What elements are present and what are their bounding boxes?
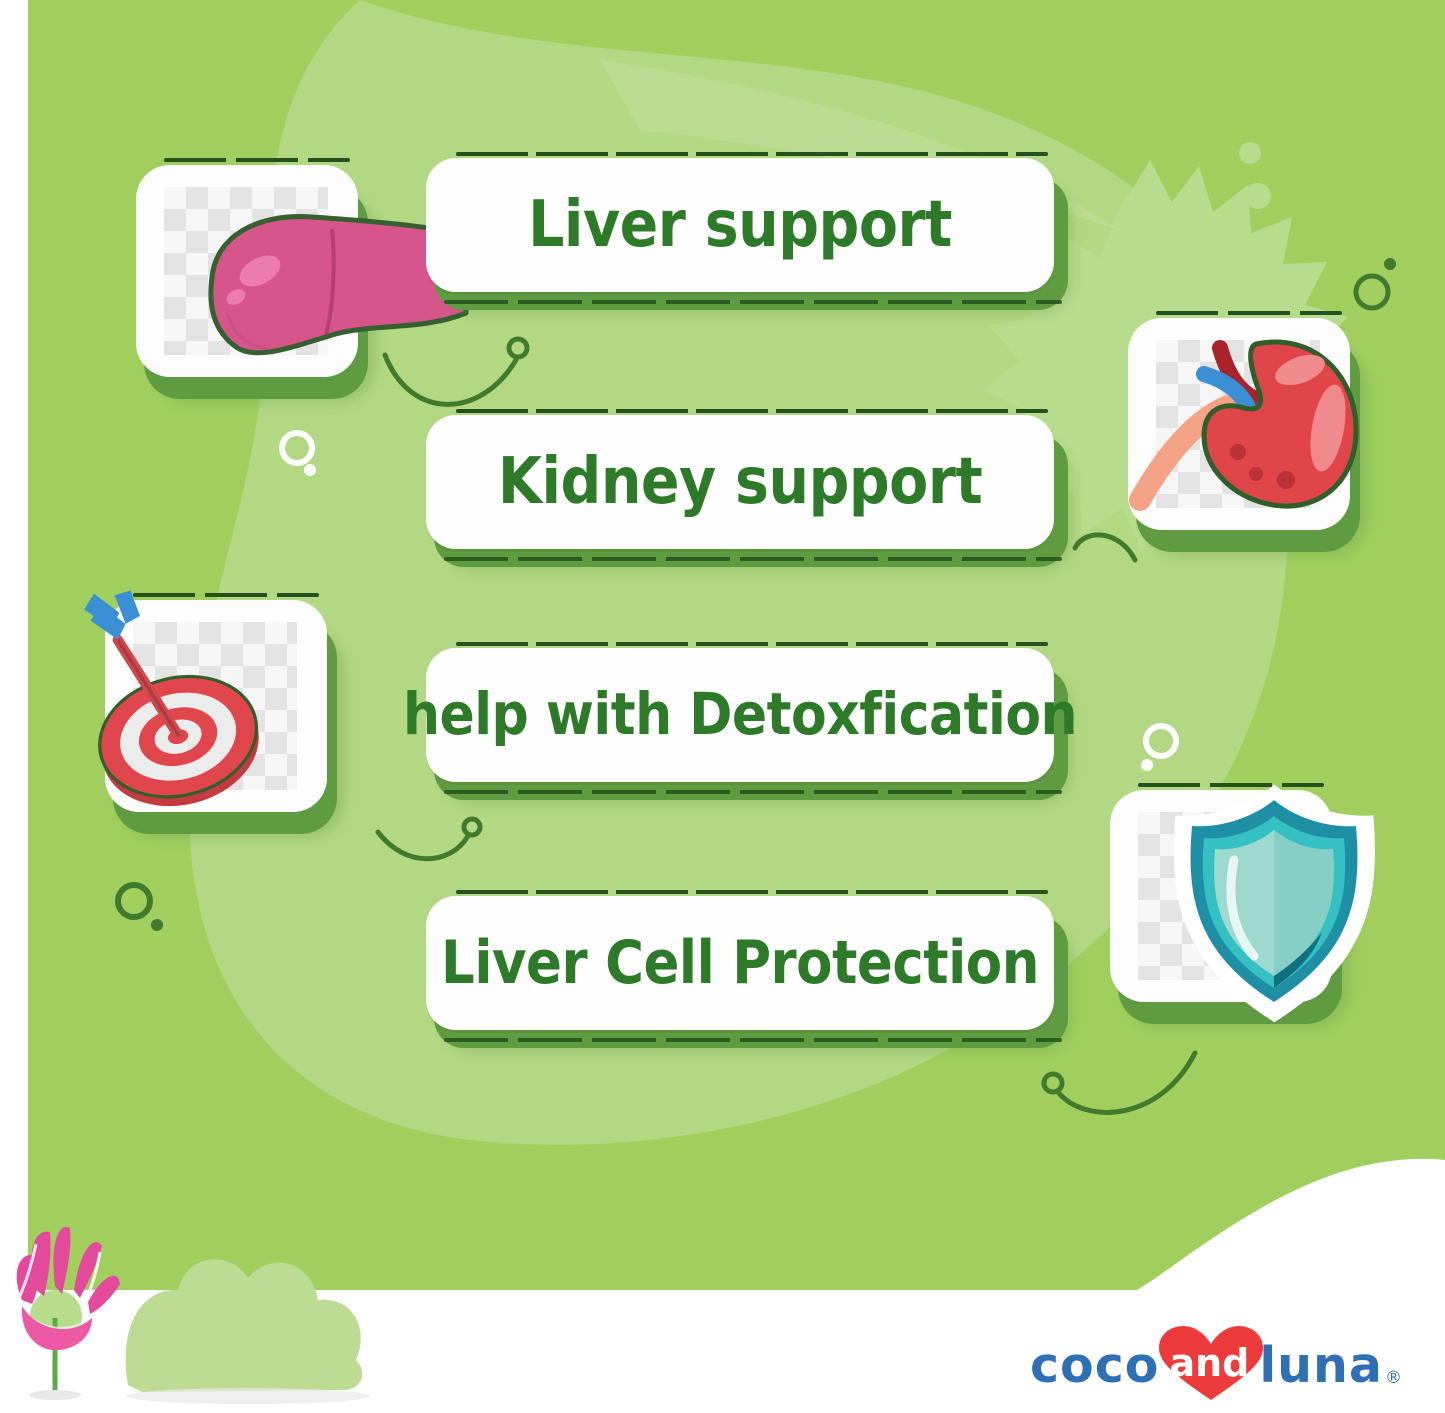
benefit-label: Liver support [516,193,964,257]
heart-icon: and [1155,1326,1263,1404]
bush-shadow [126,1388,370,1404]
bubble-dot-top-right [1384,258,1396,270]
tile-top-dash [1156,311,1342,315]
benefit-card-detoxfication[interactable]: help with Detoxfication [420,648,1072,798]
card-face: Liver Cell Protection [426,896,1054,1030]
card-top-dash [456,642,1048,646]
transparency-checker [164,187,328,355]
tile-top-dash [133,593,319,597]
transparency-checker [1156,340,1320,508]
icon-tile-shield [1110,790,1342,1022]
infographic-canvas: Liver support Kidney support help with D… [0,0,1445,1413]
benefit-card-kidney-support[interactable]: Kidney support [420,415,1072,565]
tile-face [136,165,358,377]
bubble-small-top-right-a [1239,142,1261,164]
bubble-dot-small [304,464,316,476]
brand-logo[interactable]: coco and luna ® [1030,1326,1402,1404]
card-face: Kidney support [426,415,1054,549]
card-face: Liver support [426,158,1054,292]
tile-face [1110,790,1332,1002]
logo-word-coco: coco [1030,1341,1159,1390]
bubble-dot-white-right [1141,759,1153,771]
card-top-dash [456,409,1048,413]
transparency-checker [133,622,297,790]
card-top-dash [456,890,1048,894]
benefit-label: help with Detoxfication [391,686,1089,744]
benefit-card-liver-support[interactable]: Liver support [420,158,1072,308]
tile-top-dash [1138,783,1324,787]
transparency-checker [1138,812,1302,980]
tile-top-dash [164,158,350,162]
benefit-label: Liver Cell Protection [429,933,1051,992]
icon-tile-liver [136,165,368,397]
logo-word-and: and [1169,1344,1249,1382]
benefit-label: Kidney support [486,450,994,514]
card-top-dash [456,152,1048,156]
tile-face [105,600,327,812]
registered-trademark-mark: ® [1385,1368,1402,1388]
left-margin [0,0,28,1413]
logo-word-luna: luna [1259,1341,1383,1390]
card-face: help with Detoxfication [426,648,1054,782]
tile-face [1128,318,1350,530]
icon-tile-target [105,600,337,832]
bubble-dot-dark [151,919,163,931]
bubble-small-top-right-b [1245,183,1271,209]
benefit-card-liver-cell-protection[interactable]: Liver Cell Protection [420,896,1072,1046]
icon-tile-kidney [1128,318,1360,550]
